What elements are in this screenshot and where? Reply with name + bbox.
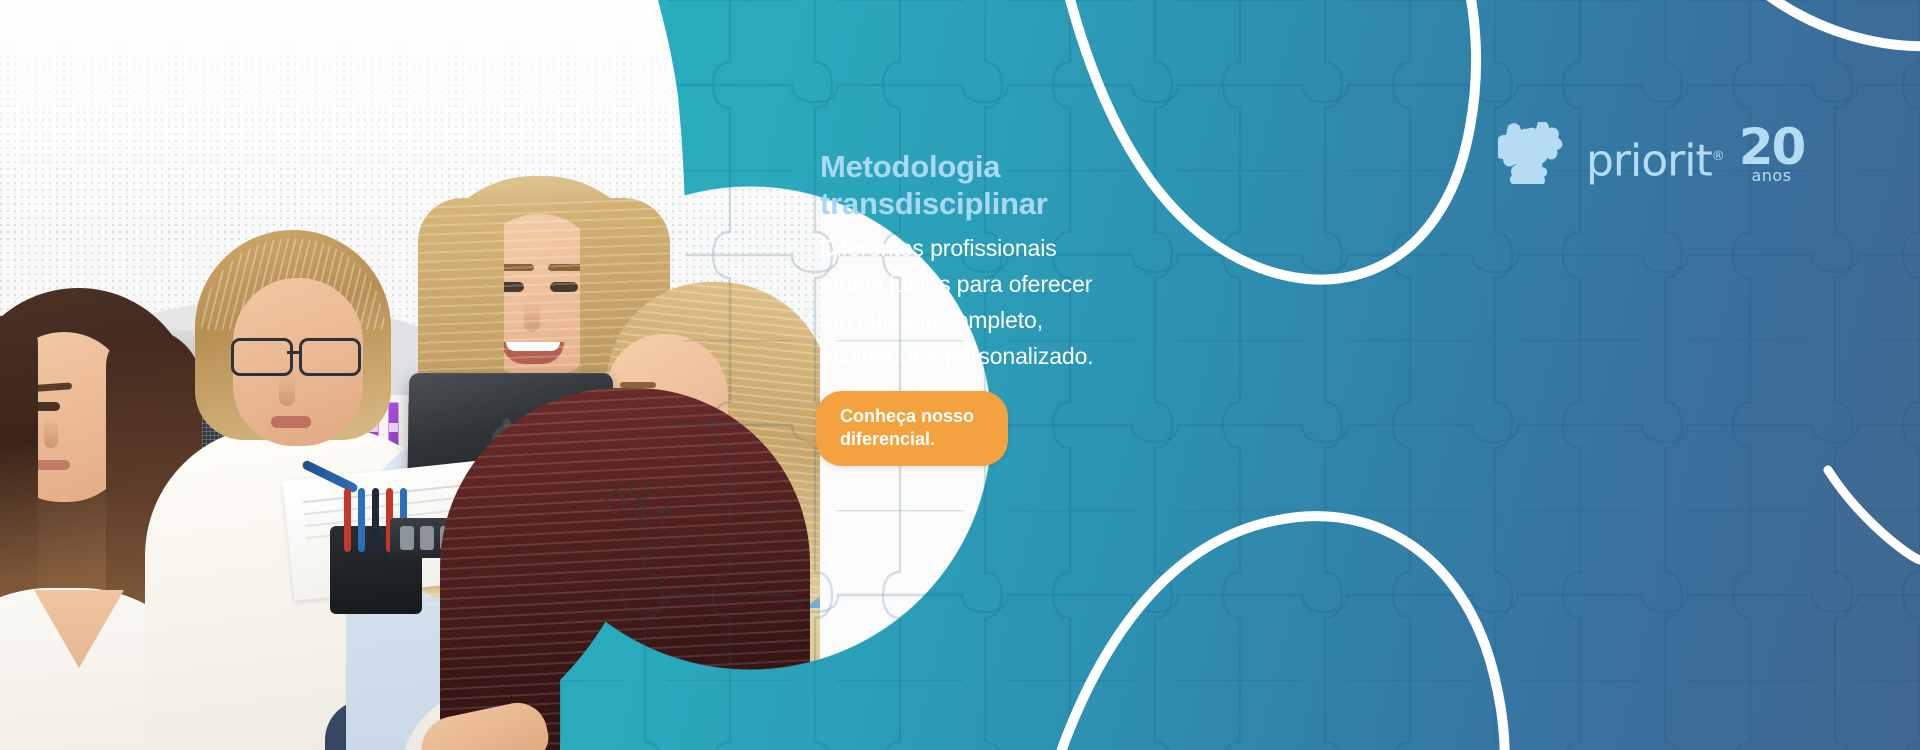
body-line-4: acolhedor e personalizado.: [820, 343, 1094, 369]
page-title: Metodologia transdisciplinar: [820, 148, 1180, 222]
eyeglasses: [231, 338, 367, 372]
brand-logo[interactable]: priorit® 20 anos: [1498, 122, 1804, 184]
nose: [279, 376, 295, 406]
logo-word-text: priorit: [1586, 136, 1712, 187]
nose: [44, 418, 58, 448]
hero-banner: PECTRO FEMININO OFICIAL priorit: [0, 0, 1920, 750]
cta-line-1: Conheça nosso: [840, 406, 974, 426]
anniversary-label: anos: [1751, 168, 1791, 184]
headline-line-2: transdisciplinar: [820, 186, 1048, 221]
hero-copy: Metodologia transdisciplinar Diferentes …: [820, 148, 1180, 374]
body-line-2: atuam juntos para oferecer: [820, 271, 1092, 297]
lens-right: [299, 338, 361, 376]
cta-line-2: diferencial.: [840, 429, 935, 449]
panel-bottom-notch: [520, 560, 840, 750]
anniversary-badge: 20 anos: [1739, 122, 1805, 184]
hero-description: Diferentes profissionais atuam juntos pa…: [820, 230, 1180, 374]
registered-mark: ®: [1712, 149, 1725, 164]
body-line-3: um cuidado completo,: [820, 307, 1043, 333]
logo-wordmark: priorit®: [1586, 135, 1725, 184]
anniversary-number: 20: [1739, 122, 1805, 172]
lens-left: [231, 338, 293, 376]
puzzle-pieces-icon: [1498, 122, 1572, 184]
lips: [271, 416, 311, 428]
body-line-1: Diferentes profissionais: [820, 235, 1057, 261]
cta-button[interactable]: Conheça nosso diferencial.: [816, 391, 1008, 466]
headline-line-1: Metodologia: [820, 149, 1000, 184]
